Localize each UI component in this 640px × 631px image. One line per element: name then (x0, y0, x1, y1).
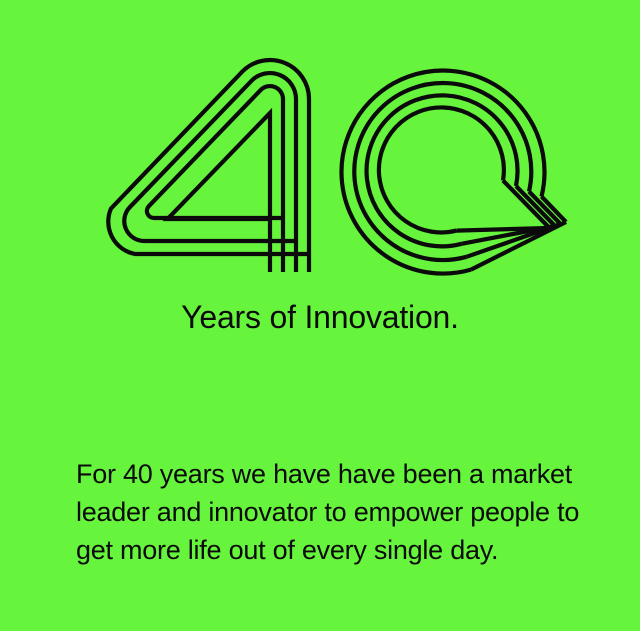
four-stroke-3 (147, 86, 283, 272)
four-stroke-4 (168, 113, 271, 272)
40-logo-svg: 40 (0, 0, 640, 300)
zero-ring-3 (367, 95, 518, 246)
body-copy: For 40 years we have have been a market … (76, 455, 610, 569)
40-anniversary-logo: 40 (0, 0, 640, 300)
zero-tail-2 (529, 192, 561, 225)
zero-ring-1 (341, 71, 544, 274)
headline-years-of-innovation: Years of Innovation. (0, 299, 640, 336)
zero-tail-edge-4 (457, 228, 550, 231)
zero-ring-4 (379, 107, 504, 232)
anniversary-poster: 40 (0, 0, 640, 631)
